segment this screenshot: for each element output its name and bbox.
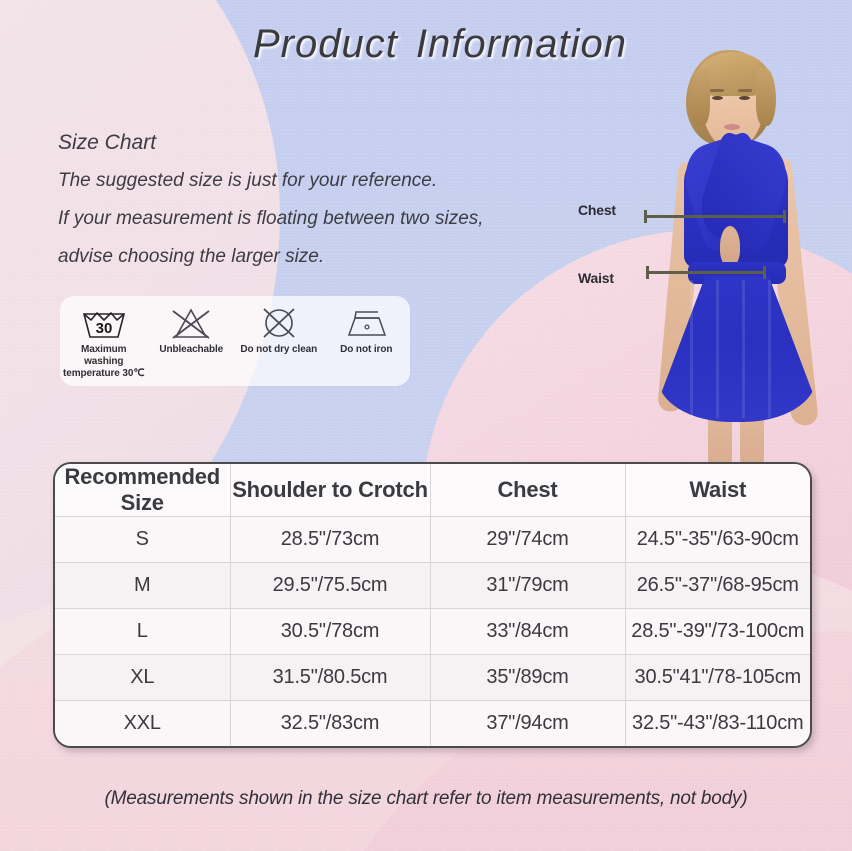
model-photo: [628, 40, 852, 470]
size-chart-heading: Size Chart: [58, 124, 598, 162]
svg-text:30: 30: [95, 320, 112, 337]
cell-waist: 30.5"41"/78-105cm: [625, 655, 810, 701]
cell-shoulder-to-crotch: 32.5"/83cm: [230, 701, 430, 747]
iron-icon: [323, 304, 409, 342]
cell-chest: 33"/84cm: [430, 609, 625, 655]
cell-chest: 37"/94cm: [430, 701, 625, 747]
cell-chest: 31"/79cm: [430, 563, 625, 609]
cell-chest: 35"/89cm: [430, 655, 625, 701]
dress-skirt-fold: [768, 280, 771, 418]
cell-waist: 28.5"-39"/73-100cm: [625, 609, 810, 655]
care-item-dry-clean: Do not dry clean: [236, 304, 322, 356]
waist-measurement-line: [646, 271, 766, 274]
size-chart-table-container: Recommended Size Shoulder to Crotch Ches…: [53, 462, 812, 748]
cell-shoulder-to-crotch: 31.5"/80.5cm: [230, 655, 430, 701]
footer-note: (Measurements shown in the size chart re…: [0, 788, 852, 810]
model-eyebrow-right: [738, 89, 752, 92]
dress-skirt-fold: [690, 280, 693, 418]
cell-shoulder-to-crotch: 28.5"/73cm: [230, 517, 430, 563]
column-header-chest: Chest: [430, 464, 625, 517]
cell-size: M: [55, 563, 230, 609]
dress-skirt-fold: [716, 280, 719, 418]
column-header-recommended-size: Recommended Size: [55, 464, 230, 517]
table-row: M 29.5"/75.5cm 31"/79cm 26.5"-37"/68-95c…: [55, 563, 810, 609]
product-information-page: Product Information Size Chart The sugge…: [0, 0, 852, 851]
cell-shoulder-to-crotch: 30.5"/78cm: [230, 609, 430, 655]
care-instructions-panel: 30 Maximum washing temperature 30℃ Unble…: [60, 296, 410, 386]
care-item-iron: Do not iron: [323, 304, 409, 356]
chest-measurement-cap-left: [644, 210, 647, 223]
table-header-row: Recommended Size Shoulder to Crotch Ches…: [55, 464, 810, 517]
cell-waist: 26.5"-37"/68-95cm: [625, 563, 810, 609]
cell-shoulder-to-crotch: 29.5"/75.5cm: [230, 563, 430, 609]
dress-skirt-fold: [742, 280, 745, 418]
waist-measurement-cap-right: [763, 266, 766, 279]
chest-measurement-line: [644, 215, 786, 218]
size-chart-table: Recommended Size Shoulder to Crotch Ches…: [55, 464, 810, 746]
intro-line-1: The suggested size is just for your refe…: [58, 162, 598, 200]
care-label-dry-clean: Do not dry clean: [236, 344, 322, 356]
cell-size: XXL: [55, 701, 230, 747]
model-eyebrow-left: [710, 89, 724, 92]
table-row: L 30.5"/78cm 33"/84cm 28.5"-39"/73-100cm: [55, 609, 810, 655]
column-header-shoulder-to-crotch: Shoulder to Crotch: [230, 464, 430, 517]
column-header-waist: Waist: [625, 464, 810, 517]
model-hair-side-left: [690, 68, 710, 126]
cell-size: L: [55, 609, 230, 655]
care-label-washing-line1: Maximum washing: [81, 344, 126, 367]
cell-waist: 32.5"-43"/83-110cm: [625, 701, 810, 747]
chest-measurement-label: Chest: [578, 202, 616, 218]
cell-size: S: [55, 517, 230, 563]
model-eye-right: [739, 96, 750, 100]
waist-measurement-label: Waist: [578, 270, 614, 286]
model-hair-side-right: [756, 68, 776, 126]
wash-tub-30-icon: 30: [61, 304, 147, 342]
cell-size: XL: [55, 655, 230, 701]
crossed-circle-icon: [236, 304, 322, 342]
table-row: XL 31.5"/80.5cm 35"/89cm 30.5"41"/78-105…: [55, 655, 810, 701]
waist-measurement-cap-left: [646, 266, 649, 279]
table-row: S 28.5"/73cm 29"/74cm 24.5"-35"/63-90cm: [55, 517, 810, 563]
care-label-washing-line2: temperature 30℃: [63, 368, 144, 379]
care-label-bleach: Unbleachable: [148, 344, 234, 356]
chest-measurement-cap-right: [783, 210, 786, 223]
crossed-triangle-icon: [148, 304, 234, 342]
cell-chest: 29"/74cm: [430, 517, 625, 563]
care-label-iron: Do not iron: [323, 344, 409, 356]
table-row: XXL 32.5"/83cm 37"/94cm 32.5"-43"/83-110…: [55, 701, 810, 747]
intro-line-2: If your measurement is floating between …: [58, 200, 598, 238]
care-item-washing: 30 Maximum washing temperature 30℃: [61, 304, 147, 380]
intro-line-3: advise choosing the larger size.: [58, 238, 598, 276]
care-item-bleach: Unbleachable: [148, 304, 234, 356]
cell-waist: 24.5"-35"/63-90cm: [625, 517, 810, 563]
dress-cutout: [720, 226, 740, 266]
model-lips: [724, 124, 740, 130]
size-chart-intro: Size Chart The suggested size is just fo…: [58, 124, 598, 276]
care-label-washing: Maximum washing temperature 30℃: [61, 344, 147, 380]
model-eye-left: [712, 96, 723, 100]
